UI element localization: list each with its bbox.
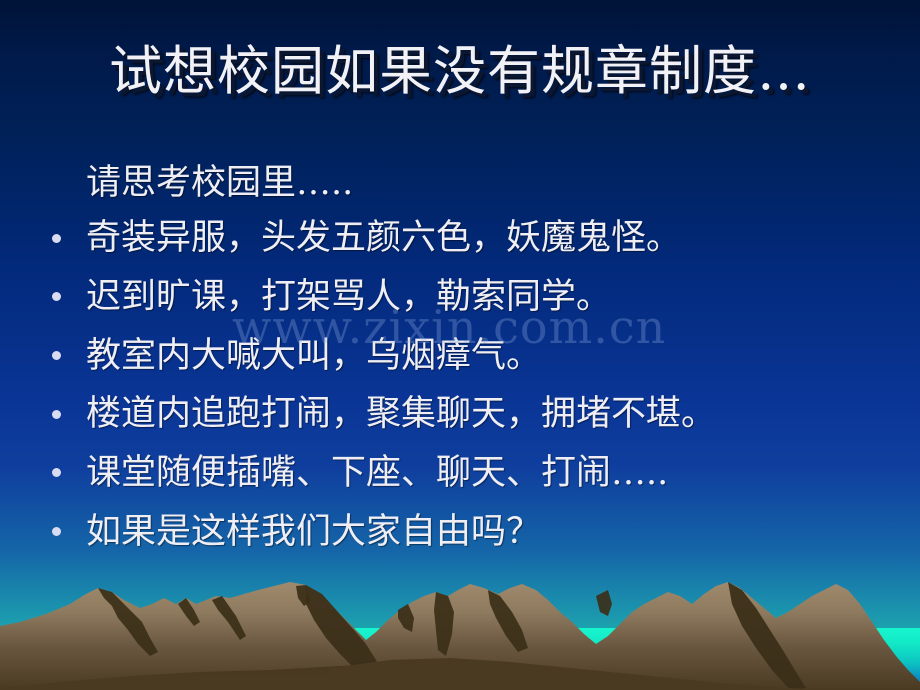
bullet-dot-icon [52, 351, 61, 360]
list-item: 如果是这样我们大家自由吗？ [34, 504, 894, 561]
bullet-dot-icon [52, 527, 61, 536]
list-item-label: 教室内大喊大叫，乌烟瘴气。 [86, 336, 541, 376]
list-item: 课堂随便插嘴、下座、聊天、打闹….. [34, 445, 894, 502]
list-item-label: 楼道内追跑打闹，聚集聊天，拥堵不堪。 [86, 394, 716, 434]
list-item: 迟到旷课，打架骂人，勒索同学。 [34, 269, 894, 326]
list-item: 奇装异服，头发五颜六色，妖魔鬼怪。 [34, 210, 894, 267]
list-item-label: 迟到旷课，打架骂人，勒索同学。 [86, 277, 611, 317]
mountain-shadow-right3 [596, 590, 612, 616]
mountain-range-graphic [0, 560, 920, 690]
bullet-list: 奇装异服，头发五颜六色，妖魔鬼怪。 迟到旷课，打架骂人，勒索同学。 教室内大喊大… [34, 210, 894, 560]
list-item-label: 如果是这样我们大家自由吗？ [86, 512, 541, 552]
list-item-label: 奇装异服，头发五颜六色，妖魔鬼怪。 [86, 218, 681, 258]
slide-title: 试想校园如果没有规章制度… [0, 42, 920, 103]
lead-line: 请思考校园里….. [86, 160, 894, 206]
bullet-dot-icon [52, 468, 61, 477]
list-item: 教室内大喊大叫，乌烟瘴气。 [34, 328, 894, 385]
slide-body: 请思考校园里….. 奇装异服，头发五颜六色，妖魔鬼怪。 迟到旷课，打架骂人，勒索… [34, 160, 894, 562]
list-item: 楼道内追跑打闹，聚集聊天，拥堵不堪。 [34, 386, 894, 443]
bullet-dot-icon [52, 292, 61, 301]
bullet-dot-icon [52, 234, 61, 243]
list-item-label: 课堂随便插嘴、下座、聊天、打闹….. [86, 453, 668, 493]
bullet-dot-icon [52, 410, 61, 419]
presentation-slide: 试想校园如果没有规章制度… 请思考校园里….. 奇装异服，头发五颜六色，妖魔鬼怪… [0, 0, 920, 690]
